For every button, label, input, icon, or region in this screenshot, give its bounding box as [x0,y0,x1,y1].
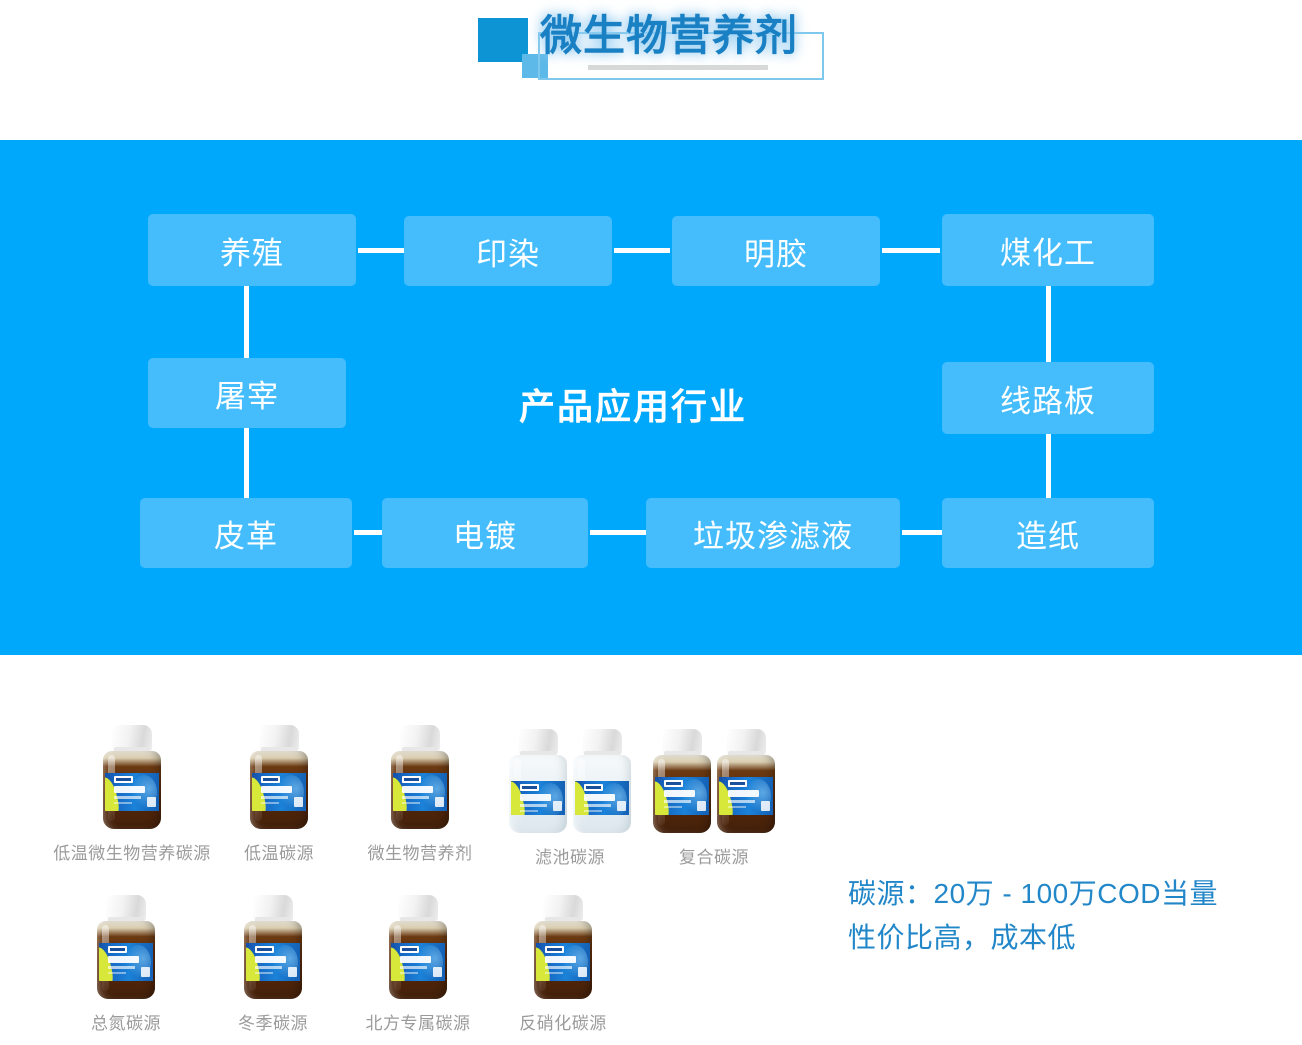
industry-node[interactable]: 电镀 [382,498,588,568]
promo-line-2: 性价比高，成本低 [848,916,1278,960]
label-subline-bar [400,966,427,969]
label-fineprint-bar [520,810,538,812]
product-image [215,717,343,829]
industry-node-label: 屠宰 [215,371,279,416]
product-caption: 北方专属碳源 [350,1009,486,1034]
product-caption: 总氮碳源 [62,1009,190,1034]
product-caption: 滤池碳源 [506,843,634,868]
label-brand-mark-icon [108,946,127,953]
connector-vertical [1046,434,1051,500]
label-fineprint-bar [255,972,273,974]
product-image [62,887,190,999]
label-fineprint-bar [261,802,279,804]
connector-vertical [244,428,249,500]
product-image [650,721,778,833]
label-brand-mark-icon [545,946,564,953]
label-corner-mark-icon [553,801,562,811]
product-bottle-icon [248,725,310,829]
label-headline-bar [520,794,551,801]
industry-node[interactable]: 屠宰 [148,358,346,428]
product-caption: 低温微生物营养碳源 [52,839,212,864]
industry-node[interactable]: 造纸 [942,498,1154,568]
bottle-label-icon [105,773,159,811]
product-bottle-icon [387,895,449,999]
label-brand-mark-icon [402,776,421,783]
industry-node-label: 皮革 [214,511,278,556]
label-corner-mark-icon [147,797,156,807]
product-bottle-icon [651,729,713,833]
diagram-center-title: 产品应用行业 [519,378,747,430]
product-item[interactable]: 复合碳源 [650,721,778,868]
label-subline-bar [664,800,691,803]
label-subline-bar [728,800,755,803]
promo-text-block: 碳源：20万 - 100万COD当量 性价比高，成本低 [848,872,1278,960]
industry-node[interactable]: 煤化工 [942,214,1154,286]
label-fineprint-bar [728,806,746,808]
label-corner-mark-icon [435,797,444,807]
label-corner-mark-icon [697,801,706,811]
label-headline-bar [261,786,292,793]
product-bottle-icon [101,725,163,829]
bottle-label-icon [536,943,590,981]
label-brand-mark-icon [255,946,274,953]
product-image [209,887,337,999]
industry-node[interactable]: 皮革 [140,498,352,568]
product-item[interactable]: 北方专属碳源 [350,887,486,1034]
product-bottle-icon [715,729,777,833]
connector-horizontal [590,530,646,535]
label-corner-mark-icon [578,967,587,977]
product-bottle-icon [507,729,569,833]
label-brand-mark-icon [261,776,280,783]
product-bottle-icon [571,729,633,833]
industry-node[interactable]: 明胶 [672,216,880,286]
label-subline-bar [584,804,611,807]
bottle-label-icon [391,943,445,981]
label-corner-mark-icon [288,967,297,977]
label-fineprint-bar [584,810,602,812]
label-fineprint-bar [114,802,132,804]
bottle-label-icon [719,777,773,815]
label-brand-mark-icon [728,780,747,787]
label-headline-bar [400,956,431,963]
industry-node[interactable]: 印染 [404,216,612,286]
product-item[interactable]: 低温碳源 [215,717,343,864]
application-industries-diagram: 产品应用行业 养殖印染明胶煤化工屠宰线路板皮革电镀垃圾渗滤液造纸 [0,140,1302,655]
product-gallery: 低温微生物营养碳源低温碳源微生物营养剂滤池碳源复合碳源总氮碳源冬季碳源北方专属碳… [0,655,1302,1045]
connector-horizontal [882,248,940,253]
label-headline-bar [584,794,615,801]
bottle-label-icon [99,943,153,981]
product-bottle-icon [95,895,157,999]
bottle-label-icon [252,773,306,811]
label-fineprint-bar [545,972,563,974]
label-subline-bar [114,796,141,799]
industry-node-label: 明胶 [744,229,808,274]
connector-vertical [244,286,249,360]
product-caption: 复合碳源 [650,843,778,868]
label-subline-bar [520,804,547,807]
connector-horizontal [354,530,384,535]
product-bottle-icon [532,895,594,999]
industry-node-label: 线路板 [1000,376,1096,421]
label-fineprint-bar [664,806,682,808]
title-block: 微生物营养剂 [478,10,838,80]
label-corner-mark-icon [617,801,626,811]
industry-node-label: 电镀 [453,511,517,556]
label-brand-mark-icon [520,784,539,791]
label-corner-mark-icon [761,801,770,811]
label-subline-bar [255,966,282,969]
connector-horizontal [358,248,406,253]
promo-line-1: 碳源：20万 - 100万COD当量 [848,872,1278,916]
label-headline-bar [402,786,433,793]
product-image [497,887,629,999]
industry-node[interactable]: 垃圾渗滤液 [646,498,900,568]
industry-node-label: 垃圾渗滤液 [693,511,853,556]
label-subline-bar [402,796,429,799]
label-headline-bar [728,790,759,797]
industry-node-label: 造纸 [1016,511,1080,556]
label-headline-bar [545,956,576,963]
industry-node-label: 煤化工 [1000,228,1096,273]
label-brand-mark-icon [114,776,133,783]
product-caption: 低温碳源 [215,839,343,864]
title-square-large-icon [478,18,528,62]
title-underline-bar [588,65,768,70]
product-item[interactable]: 低温微生物营养碳源 [52,717,212,864]
product-item[interactable]: 滤池碳源 [506,721,634,868]
label-corner-mark-icon [294,797,303,807]
product-item[interactable]: 总氮碳源 [62,887,190,1034]
page-header: 微生物营养剂 [0,0,1302,128]
product-bottle-icon [242,895,304,999]
label-fineprint-bar [108,972,126,974]
industry-node[interactable]: 养殖 [148,214,356,286]
bottle-label-icon [246,943,300,981]
industry-node[interactable]: 线路板 [942,362,1154,434]
bottle-label-icon [511,781,565,815]
industry-node-label: 印染 [476,229,540,274]
label-fineprint-bar [402,802,420,804]
label-brand-mark-icon [400,946,419,953]
product-image [352,717,488,829]
label-corner-mark-icon [141,967,150,977]
product-item[interactable]: 冬季碳源 [209,887,337,1034]
bottle-label-icon [575,781,629,815]
product-caption: 反硝化碳源 [497,1009,629,1034]
connector-vertical [1046,286,1051,364]
connector-horizontal [614,248,670,253]
page-title: 微生物营养剂 [540,12,798,60]
label-corner-mark-icon [433,967,442,977]
product-caption: 微生物营养剂 [352,839,488,864]
label-headline-bar [664,790,695,797]
label-brand-mark-icon [664,780,683,787]
industry-node-label: 养殖 [220,228,284,273]
bottle-label-icon [393,773,447,811]
label-headline-bar [114,786,145,793]
bottle-label-icon [655,777,709,815]
product-item[interactable]: 反硝化碳源 [497,887,629,1034]
connector-horizontal [902,530,942,535]
label-subline-bar [108,966,135,969]
product-image [350,887,486,999]
product-image [52,717,212,829]
product-image [506,721,634,833]
label-subline-bar [261,796,288,799]
product-item[interactable]: 微生物营养剂 [352,717,488,864]
label-subline-bar [545,966,572,969]
label-headline-bar [255,956,286,963]
label-brand-mark-icon [584,784,603,791]
product-bottle-icon [389,725,451,829]
label-fineprint-bar [400,972,418,974]
label-headline-bar [108,956,139,963]
product-caption: 冬季碳源 [209,1009,337,1034]
